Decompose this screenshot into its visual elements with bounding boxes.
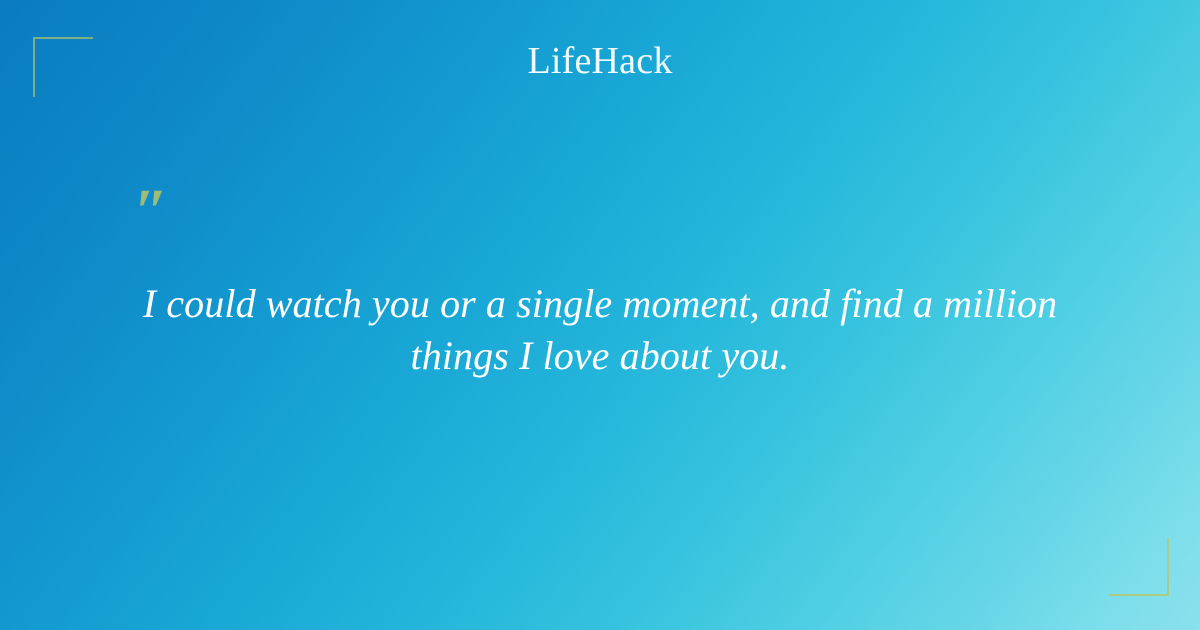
quote-text: I could watch you or a single moment, an… (100, 278, 1100, 382)
quote-block: ″ I could watch you or a single moment, … (100, 190, 1100, 382)
quotation-mark-icon: ″ (134, 190, 1100, 242)
quote-card: LifeHack ″ I could watch you or a single… (0, 0, 1200, 630)
corner-bracket-bottom-right-icon (1110, 538, 1169, 596)
brand-logo: LifeHack (0, 36, 1200, 86)
